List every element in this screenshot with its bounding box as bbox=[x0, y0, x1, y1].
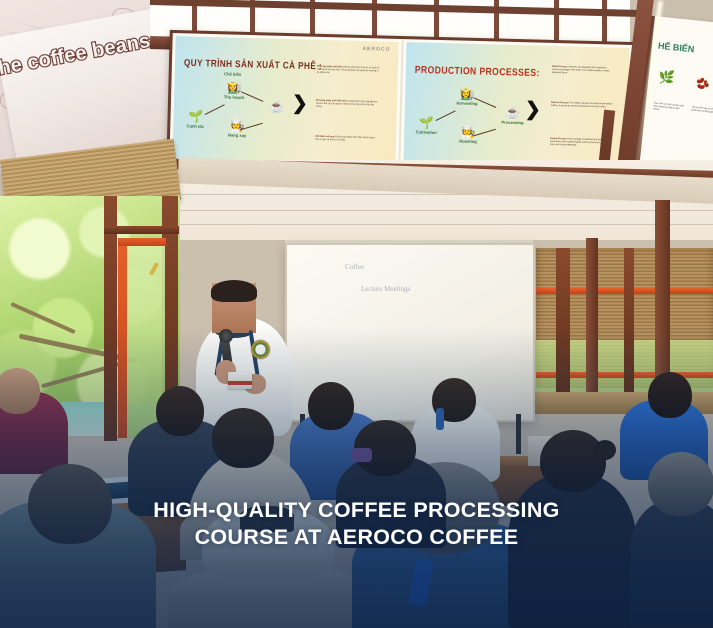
secondary-poster-note: Hạt cà phê sau sơ chế được phân loại và … bbox=[691, 106, 713, 116]
caption-line-1: HIGH-QUALITY COFFEE PROCESSING bbox=[153, 498, 559, 522]
poster-title-english: PRODUCTION PROCESSES: bbox=[415, 63, 540, 78]
poster-node-harvest-vn: 👩‍🌾 Thu hoạch bbox=[214, 81, 254, 100]
microphone-head bbox=[219, 329, 233, 343]
poster-node-roasting-en: 🧑‍🍳 Roasting bbox=[448, 125, 488, 144]
attendee-right-dark-head bbox=[540, 430, 606, 492]
poster-node-harvesting-en: 👩‍🌾 Harvesting bbox=[447, 87, 487, 106]
hair-bun bbox=[594, 440, 616, 460]
harvest-icon: 👩‍🌾 bbox=[214, 81, 254, 94]
attendee-blue-head bbox=[308, 382, 354, 430]
whiteboard-note: Lecture Meetings bbox=[361, 285, 410, 293]
whiteboard-note: Coffee bbox=[345, 263, 364, 271]
whiteboard-leg bbox=[516, 414, 521, 454]
process-poster: QUY TRÌNH SẢN XUẤT CÀ PHÊ : 🌱 Canh tác C… bbox=[166, 30, 635, 176]
poster-node-label: Cultivation bbox=[406, 129, 446, 135]
poster-title-vietnamese: QUY TRÌNH SẢN XUẤT CÀ PHÊ : bbox=[184, 57, 322, 71]
poster-node-center-vn: ☕ bbox=[262, 100, 292, 113]
window-frame-orange bbox=[118, 238, 127, 438]
attendee-dark-jacket-head bbox=[156, 386, 204, 436]
structural-post bbox=[655, 200, 670, 400]
tree-branch bbox=[10, 302, 76, 334]
secondary-poster-title: HẾ BIẾN bbox=[657, 41, 694, 55]
harvest-icon: 👩‍🌾 bbox=[447, 87, 487, 100]
name-badge bbox=[228, 372, 252, 389]
coffee-process-icon: ☕ bbox=[262, 100, 292, 113]
poster-logo: AEROCO bbox=[362, 46, 390, 53]
structural-post bbox=[586, 238, 598, 408]
photo-caption: HIGH-QUALITY COFFEE PROCESSING COURSE AT… bbox=[0, 497, 713, 551]
attendee-right-blue-head bbox=[648, 372, 692, 418]
attendee-maroon-head bbox=[0, 368, 40, 414]
coffee-cherry-icon: 🌿 bbox=[658, 69, 676, 87]
attendee-hoodie-head bbox=[212, 408, 274, 468]
secondary-poster-note: Quy trình sơ chế cà phê nhân theo phương… bbox=[653, 102, 686, 115]
window-mullion-right bbox=[624, 248, 634, 396]
poster-note: Phương pháp chế biến ướt Cà phê được loạ… bbox=[317, 66, 379, 77]
poster-node-label: Rang xay bbox=[217, 132, 257, 138]
poster-node-label: Roasting bbox=[448, 138, 488, 144]
poster-note: Wash Process Cherries are depulped and w… bbox=[552, 66, 614, 77]
poster-node-label: Chế biến bbox=[213, 71, 253, 77]
poster-node-label: Canh tác bbox=[175, 123, 215, 129]
poster-branch-arrows: ❯ bbox=[525, 103, 541, 117]
poster-note: Phương pháp chế biến khô Cà phê được phơ… bbox=[316, 100, 378, 111]
window-frame-orange bbox=[118, 238, 166, 246]
shirt-logo-patch bbox=[251, 340, 270, 359]
event-photo: the coffee beans tell stories QUY TRÌNH … bbox=[0, 0, 713, 628]
poster-note-heading: Wash Process bbox=[552, 66, 568, 68]
caption-line-2: COURSE AT AEROCO COFFEE bbox=[0, 524, 713, 551]
lanyard-strap bbox=[436, 408, 444, 430]
poster-panel-english: PRODUCTION PROCESSES: 🌱 Cultivation 👩‍🌾 … bbox=[403, 42, 629, 170]
poster-node-processing-label-vn: Chế biến bbox=[213, 70, 253, 77]
poster-note: Chế biến mật ong Giữ lại một phần nhớt t… bbox=[315, 136, 377, 144]
window-mullion-right bbox=[556, 248, 570, 396]
poster-panel-vietnamese: QUY TRÌNH SẢN XUẤT CÀ PHÊ : 🌱 Canh tác C… bbox=[172, 36, 398, 164]
poster-node-roasting-vn: 🧑‍🍳 Rang xay bbox=[217, 119, 257, 138]
speaker-hair bbox=[211, 280, 257, 302]
hair-tie bbox=[352, 448, 372, 462]
window-transom bbox=[104, 226, 179, 234]
poster-branch-arrows: ❯ bbox=[292, 97, 308, 111]
coffee-bean-icon: 🫘 bbox=[696, 77, 711, 91]
